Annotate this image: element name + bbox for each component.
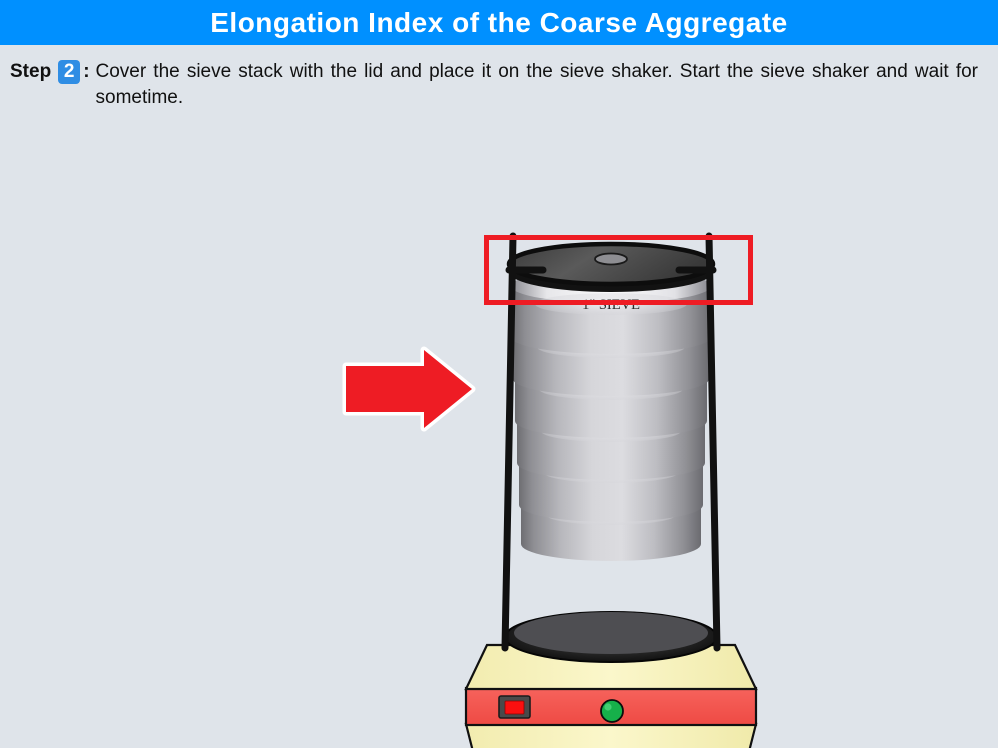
clamp-rod-left <box>505 236 513 648</box>
pointer-arrow-fill <box>346 350 472 428</box>
shaker-lower-body <box>466 724 756 748</box>
sieve-shaker-machine <box>466 612 756 748</box>
power-indicator-highlight <box>604 703 611 710</box>
page-title: Elongation Index of the Coarse Aggregate <box>210 9 787 37</box>
power-indicator-lamp <box>601 700 623 722</box>
step-label: Step <box>10 59 51 85</box>
step-description-text: Cover the sieve stack with the lid and p… <box>96 59 982 111</box>
power-switch-button <box>505 701 524 714</box>
pointer-arrow-icon <box>346 350 472 428</box>
shaker-clamp-collar-inner <box>514 612 708 654</box>
illustration-canvas: PAN 10mm SIEVE ½" SIEVE 5/8" <box>0 120 998 748</box>
lid-knob <box>595 254 627 265</box>
sieve-label-text: 1" SIEVE <box>582 297 640 313</box>
step-colon: : <box>83 59 89 85</box>
sieve-stack: PAN 10mm SIEVE ½" SIEVE 5/8" <box>511 269 711 561</box>
step-instruction-block: Step 2 : Cover the sieve stack with the … <box>0 45 998 121</box>
header-bar: Elongation Index of the Coarse Aggregate <box>0 0 998 45</box>
clamp-rod-right <box>709 236 717 648</box>
step-number-badge: 2 <box>58 60 80 84</box>
